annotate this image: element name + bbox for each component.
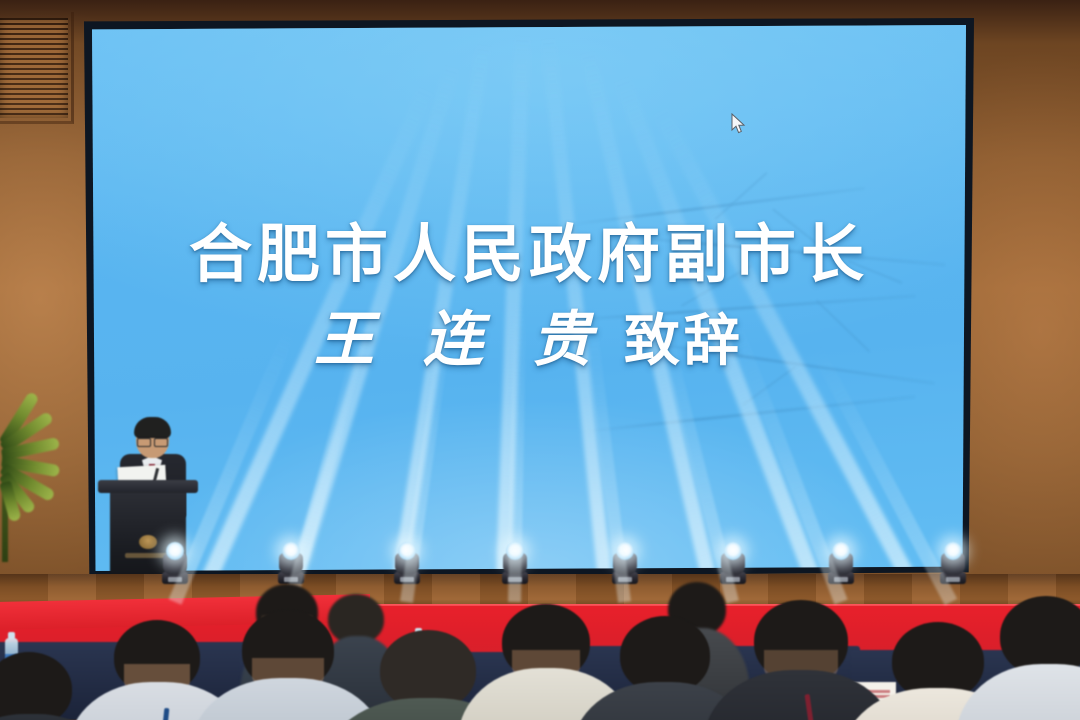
audience-person	[728, 600, 870, 720]
ventilation-grille-icon	[0, 18, 68, 118]
audience-person	[596, 616, 732, 720]
podium-emblem-icon	[139, 535, 157, 549]
podium-top	[98, 480, 198, 493]
audience-person	[976, 596, 1080, 720]
potted-palm-plant	[0, 416, 64, 566]
glasses-icon	[137, 436, 168, 443]
screen-title-line2: 王 连 贵致辞	[92, 307, 966, 373]
mouse-pointer-icon	[731, 113, 747, 135]
speech-action-text: 致辞	[624, 309, 744, 374]
audience-person	[480, 604, 612, 720]
audience-person	[218, 610, 358, 720]
audience-area	[0, 556, 1080, 720]
screen-title-block: 合肥市人民政府副市长 王 连 贵致辞	[92, 221, 966, 373]
screen-title-line1: 合肥市人民政府副市长	[92, 221, 966, 289]
audience-person	[92, 620, 222, 720]
conference-photo-scene: 合肥市人民政府副市长 王 连 贵致辞	[0, 0, 1080, 720]
speaker-hair	[134, 417, 171, 438]
audience-person	[0, 652, 96, 720]
